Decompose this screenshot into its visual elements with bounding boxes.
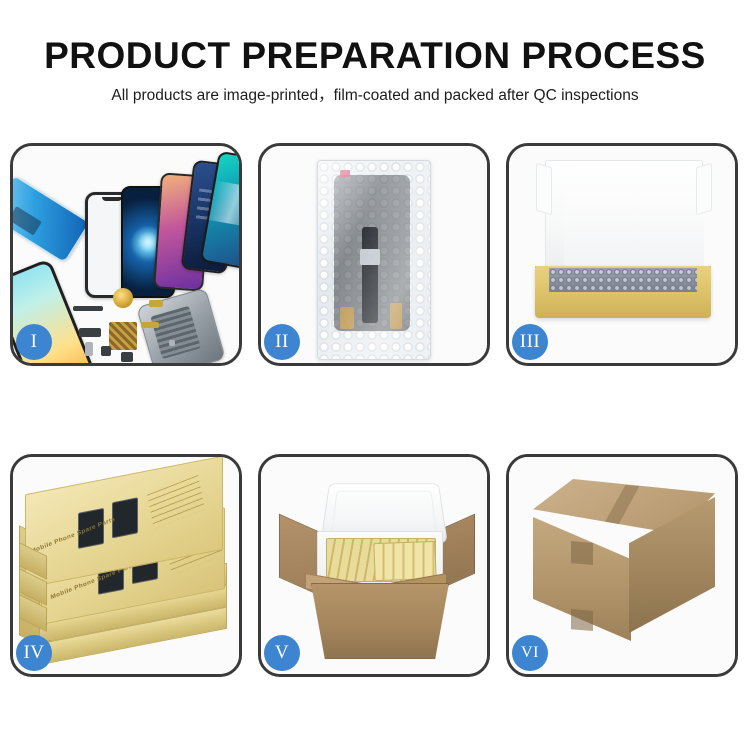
step-badge-5: V — [264, 635, 300, 671]
component-bracket — [79, 328, 101, 337]
plastic-sheen — [318, 161, 430, 359]
step-badge-1: I — [16, 324, 52, 360]
box-lid-white — [545, 160, 703, 272]
step-panel-2: II — [258, 143, 490, 366]
component-board — [109, 322, 137, 350]
box-art-screen-b1 — [112, 497, 138, 538]
bubble-wrap-bag — [317, 160, 431, 360]
open-shipping-carton — [283, 479, 469, 659]
small-components-group — [73, 296, 193, 363]
component-strip — [73, 306, 103, 311]
box-base-kraft — [535, 266, 711, 318]
page-title: PRODUCT PREPARATION PROCESS — [0, 36, 750, 76]
step-badge-2: II — [264, 324, 300, 360]
speaker-coil-part — [113, 288, 133, 308]
foam-insert — [564, 191, 704, 271]
retail-box-stack: Mobile Phone Spare Parts Mobile Phone Sp… — [19, 475, 233, 665]
sealed-carton — [533, 479, 715, 659]
carton-flap-tab-bottom — [571, 609, 593, 631]
component-screw — [169, 340, 175, 346]
grey-bubble-wrap-fill — [549, 268, 697, 292]
step-panel-3: III — [506, 143, 738, 366]
step-badge-4: IV — [16, 635, 52, 671]
phone-screen-blue-tilted — [13, 175, 90, 263]
carton-flap-tab-top — [571, 541, 593, 565]
packed-yellow-boxes-row-2 — [373, 541, 436, 581]
component-button — [101, 346, 111, 356]
page-subtitle: All products are image-printed，film-coat… — [0, 86, 750, 105]
component-gold-flex — [149, 300, 163, 307]
component-gold-cable — [141, 322, 159, 328]
step-panel-6: VI — [506, 454, 738, 677]
product-preparation-infographic: PRODUCT PREPARATION PROCESS All products… — [0, 0, 750, 750]
step-panel-4: Mobile Phone Spare Parts Mobile Phone Sp… — [10, 454, 242, 677]
steps-grid: I II — [10, 143, 738, 678]
step-badge-3: III — [512, 324, 548, 360]
component-camera — [121, 352, 133, 362]
open-mailer-box — [535, 160, 711, 320]
step-panel-1: I — [10, 143, 242, 366]
step-panel-5: V — [258, 454, 490, 677]
box-spec-lines-1 — [147, 475, 205, 529]
component-sim-tray — [85, 342, 93, 356]
step-badge-6: VI — [512, 635, 548, 671]
carton-front-face — [311, 583, 449, 659]
header: PRODUCT PREPARATION PROCESS All products… — [0, 0, 750, 122]
